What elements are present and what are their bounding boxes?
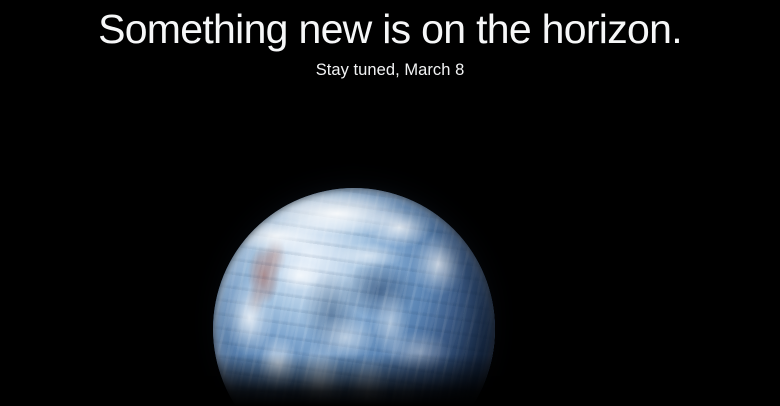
announcement-text: Something new is on the horizon. Stay tu… — [0, 0, 780, 81]
page-title: Something new is on the horizon. — [0, 0, 780, 51]
announcement-hero: Something new is on the horizon. Stay tu… — [0, 0, 780, 406]
bottom-frame-fade — [0, 354, 780, 406]
page-subtitle: Stay tuned, March 8 — [0, 51, 780, 81]
